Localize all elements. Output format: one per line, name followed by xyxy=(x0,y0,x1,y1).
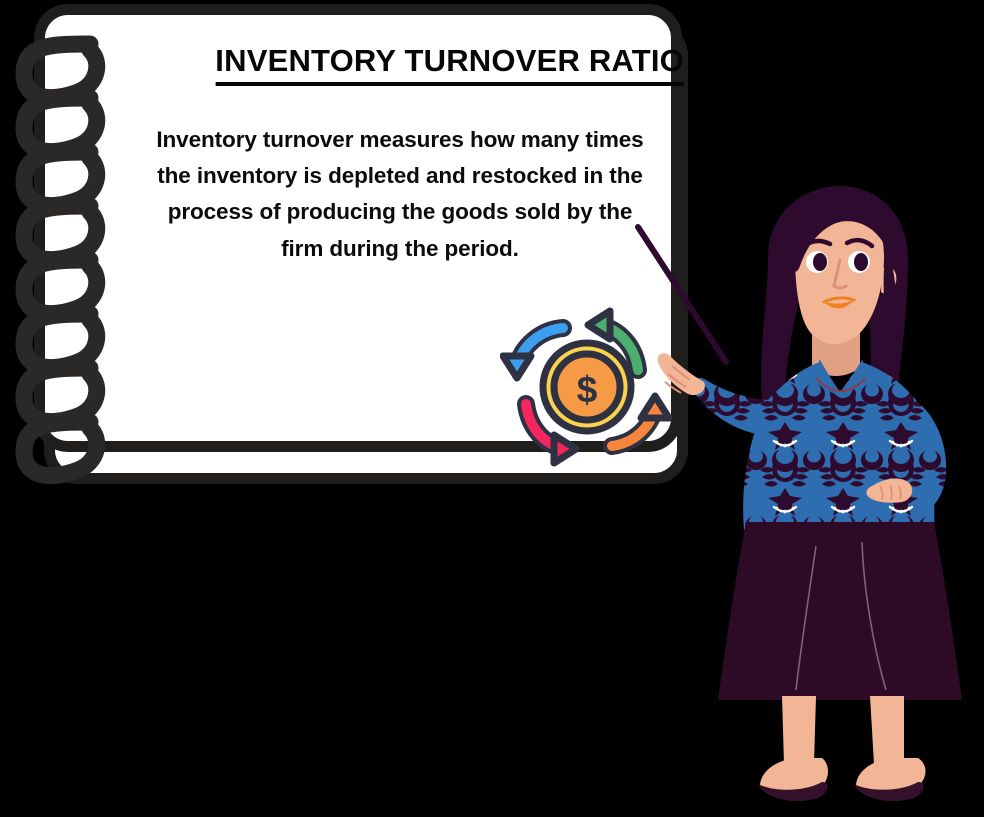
skirt xyxy=(718,522,962,700)
eye-right xyxy=(848,251,870,273)
spiral-binding xyxy=(2,14,120,484)
leg-right xyxy=(870,696,904,764)
scene-root: INVENTORY TURNOVER RATIO Inventory turno… xyxy=(0,0,984,817)
page-title: INVENTORY TURNOVER RATIO xyxy=(215,45,684,78)
body-text: Inventory turnover measures how many tim… xyxy=(150,122,650,268)
leg-left xyxy=(782,696,816,764)
pointer-stick xyxy=(630,219,740,369)
shoe-left xyxy=(758,758,828,801)
shoe-right xyxy=(854,758,926,801)
spiral-notepad: INVENTORY TURNOVER RATIO Inventory turno… xyxy=(30,4,692,488)
dollar-coin-icon: $ xyxy=(543,343,631,431)
eye-left xyxy=(806,251,828,273)
coin-dollar-symbol: $ xyxy=(577,369,598,410)
